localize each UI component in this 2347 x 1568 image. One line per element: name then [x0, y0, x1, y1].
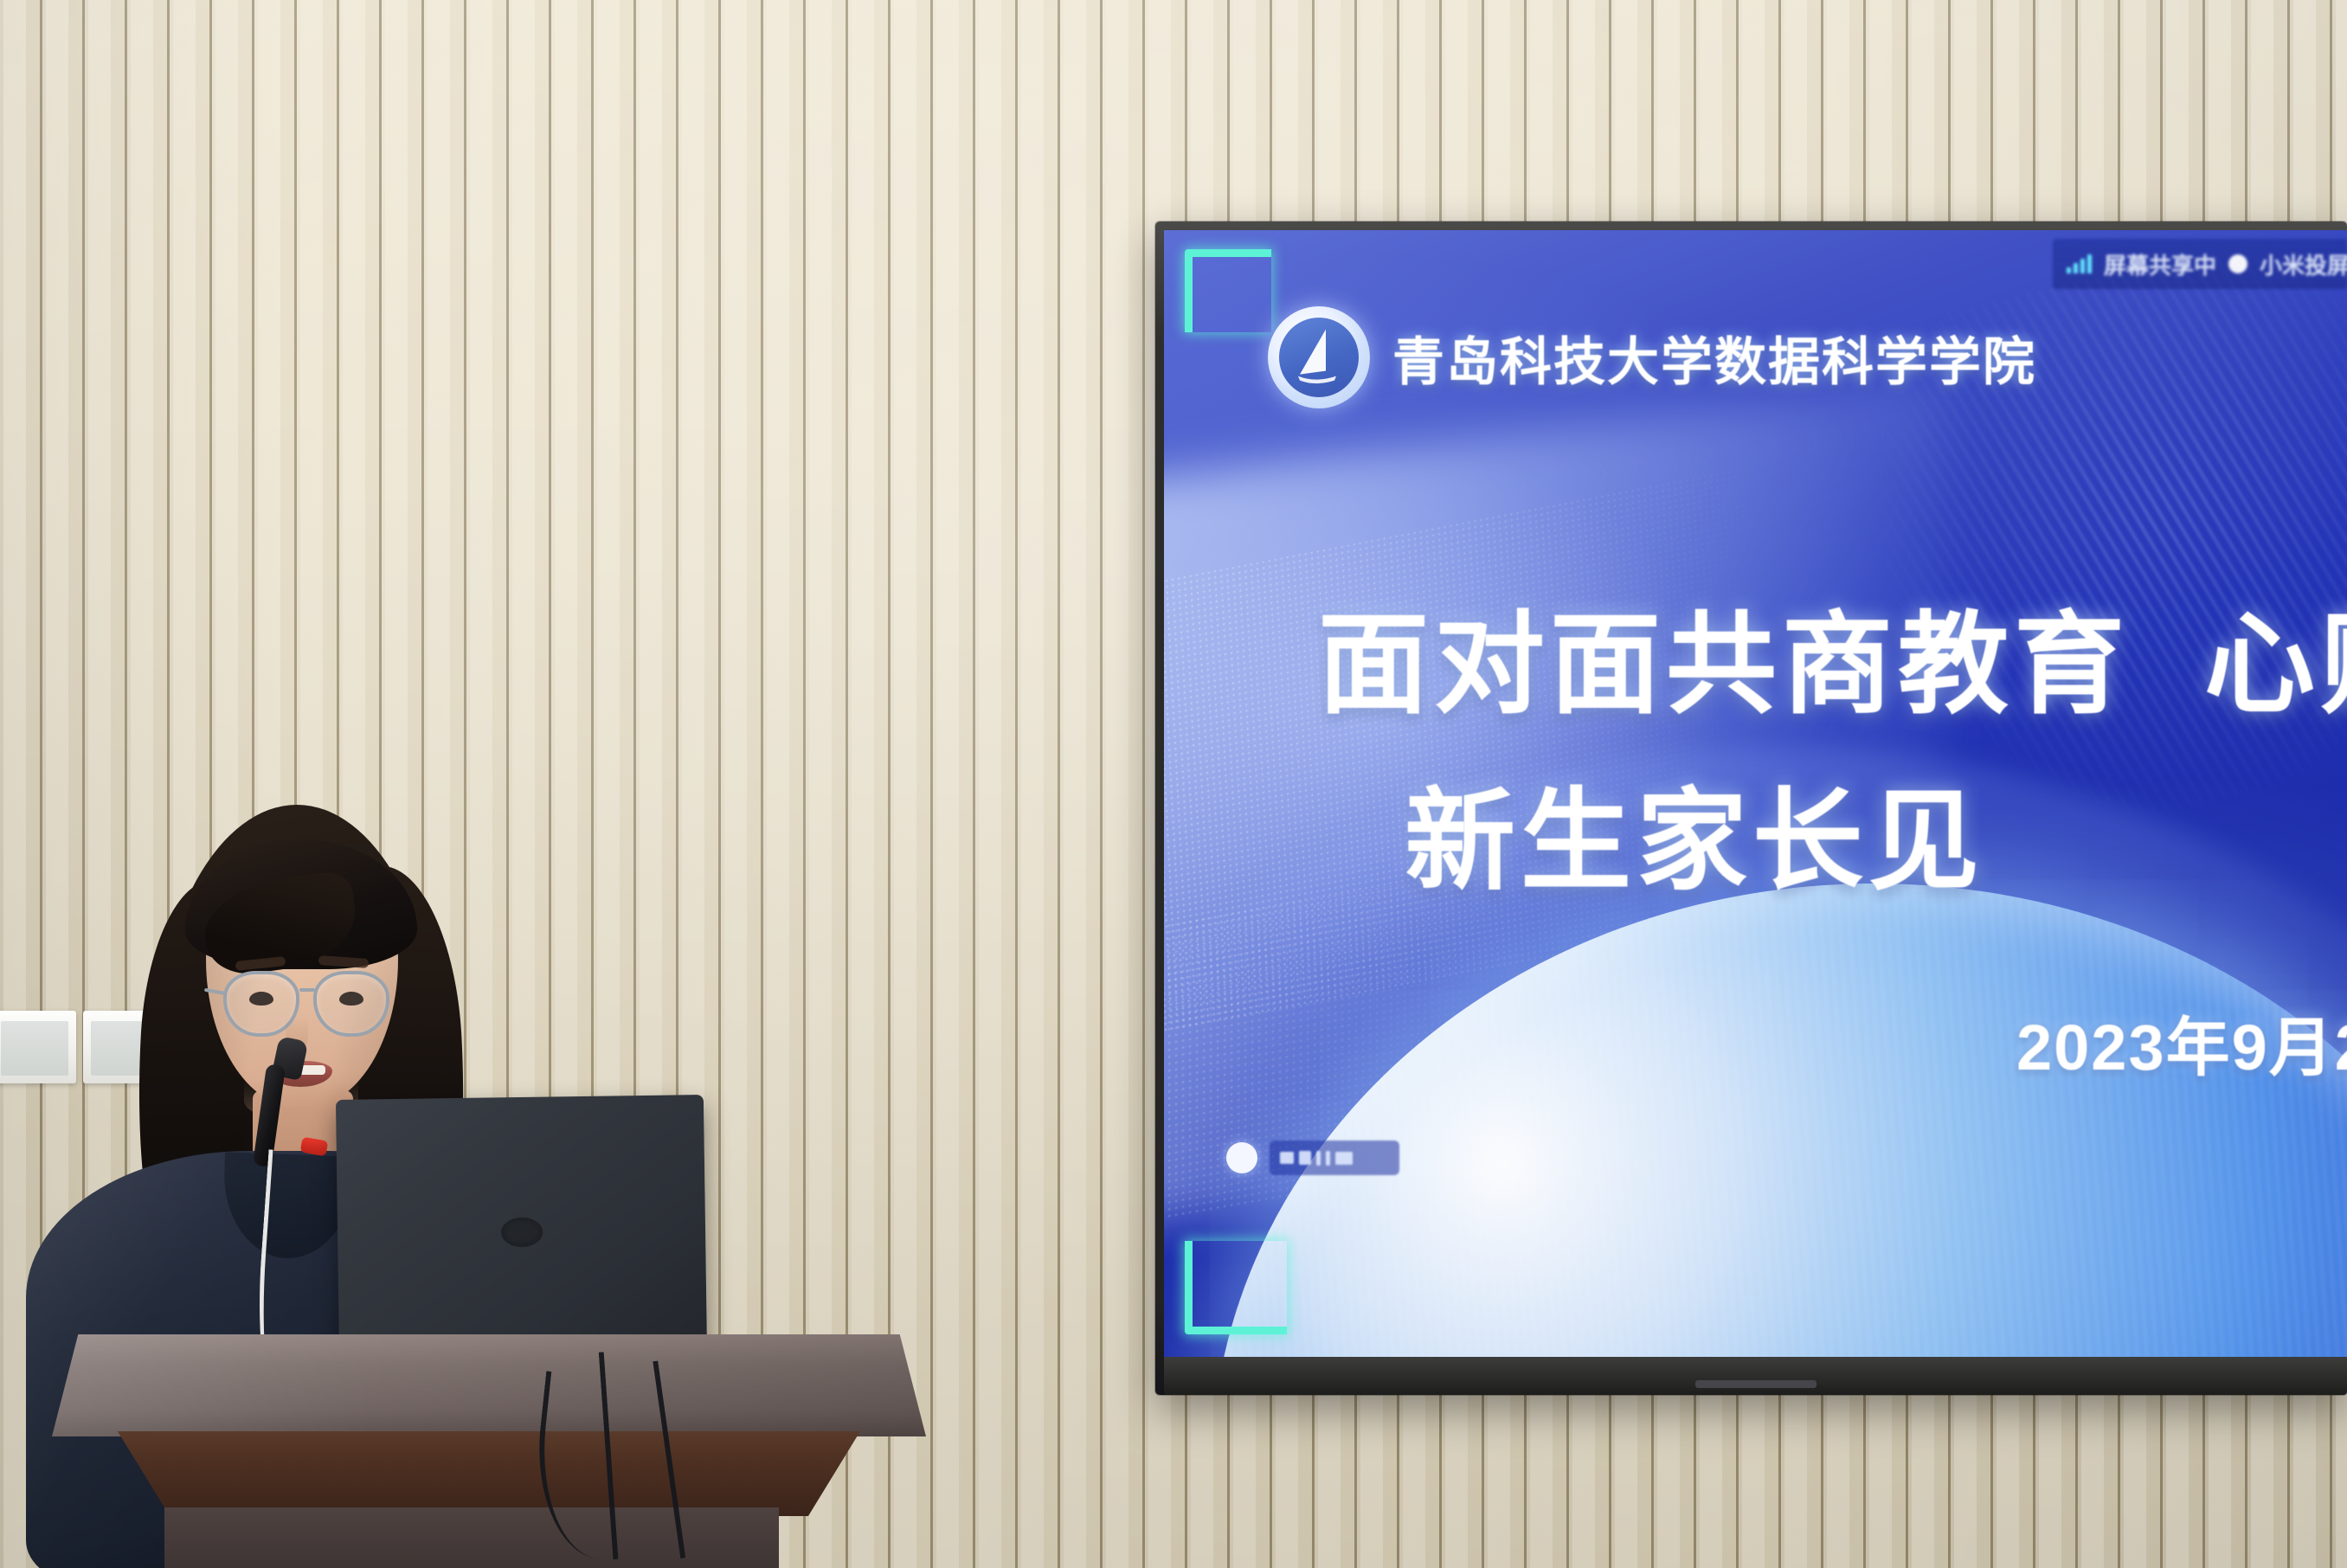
screen-share-status-bar[interactable]: 屏幕共享中 小米投屏 — [2053, 239, 2347, 289]
presenter-laptop[interactable] — [336, 1095, 707, 1359]
pointer-dot-icon[interactable] — [1226, 1142, 1257, 1173]
university-crest-sail-logo-icon — [1268, 306, 1370, 408]
slide-title-line-1-part-a: 面对面共商教育 — [1318, 603, 2130, 727]
corner-bracket-top-left-icon — [1185, 249, 1271, 332]
lectern — [52, 1334, 926, 1568]
display-panel: 青岛科技大学数据科学学院 面对面共商教育心贴 新生家长见 2023年9月2日 屏… — [1164, 230, 2347, 1357]
slide-floating-controls[interactable] — [1226, 1141, 1425, 1175]
eyeglasses-bridge-icon — [299, 988, 315, 992]
display-chin-bezel — [1164, 1357, 2347, 1395]
slide-organization-title: 青岛科技大学数据科学学院 — [1392, 320, 2036, 395]
slide-title-line-1: 面对面共商教育心贴 — [1318, 575, 2347, 735]
sail-glyph-icon — [1291, 326, 1347, 387]
slide-title-line-1-part-b: 心贴 — [2204, 603, 2347, 727]
eyeglasses-lens-right-icon — [313, 971, 389, 1037]
next-arrow-icon[interactable] — [1411, 1147, 1425, 1168]
presentation-room-scene: 青岛科技大学数据科学学院 面对面共商教育心贴 新生家长见 2023年9月2日 屏… — [0, 0, 2347, 1568]
lectern-front-panel — [118, 1431, 860, 1516]
signal-bars-icon — [2067, 254, 2092, 273]
slide-toolbar-icon[interactable] — [1270, 1141, 1399, 1175]
laptop-logo-icon — [500, 1218, 542, 1248]
presentation-slide: 青岛科技大学数据科学学院 面对面共商教育心贴 新生家长见 2023年9月2日 屏… — [1164, 230, 2347, 1357]
slide-title-line-2: 新生家长见 — [1405, 751, 1984, 911]
screen-share-source-label: 小米投屏 — [2260, 248, 2347, 280]
record-dot-icon — [2228, 254, 2247, 273]
slide-header: 青岛科技大学数据科学学院 — [1268, 306, 2036, 408]
wall-display[interactable]: 青岛科技大学数据科学学院 面对面共商教育心贴 新生家长见 2023年9月2日 屏… — [1155, 222, 2347, 1395]
slide-date: 2023年9月2日 — [2016, 996, 2347, 1089]
screen-share-status-label: 屏幕共享中 — [2104, 248, 2216, 280]
lectern-top-sheen — [52, 1334, 926, 1436]
